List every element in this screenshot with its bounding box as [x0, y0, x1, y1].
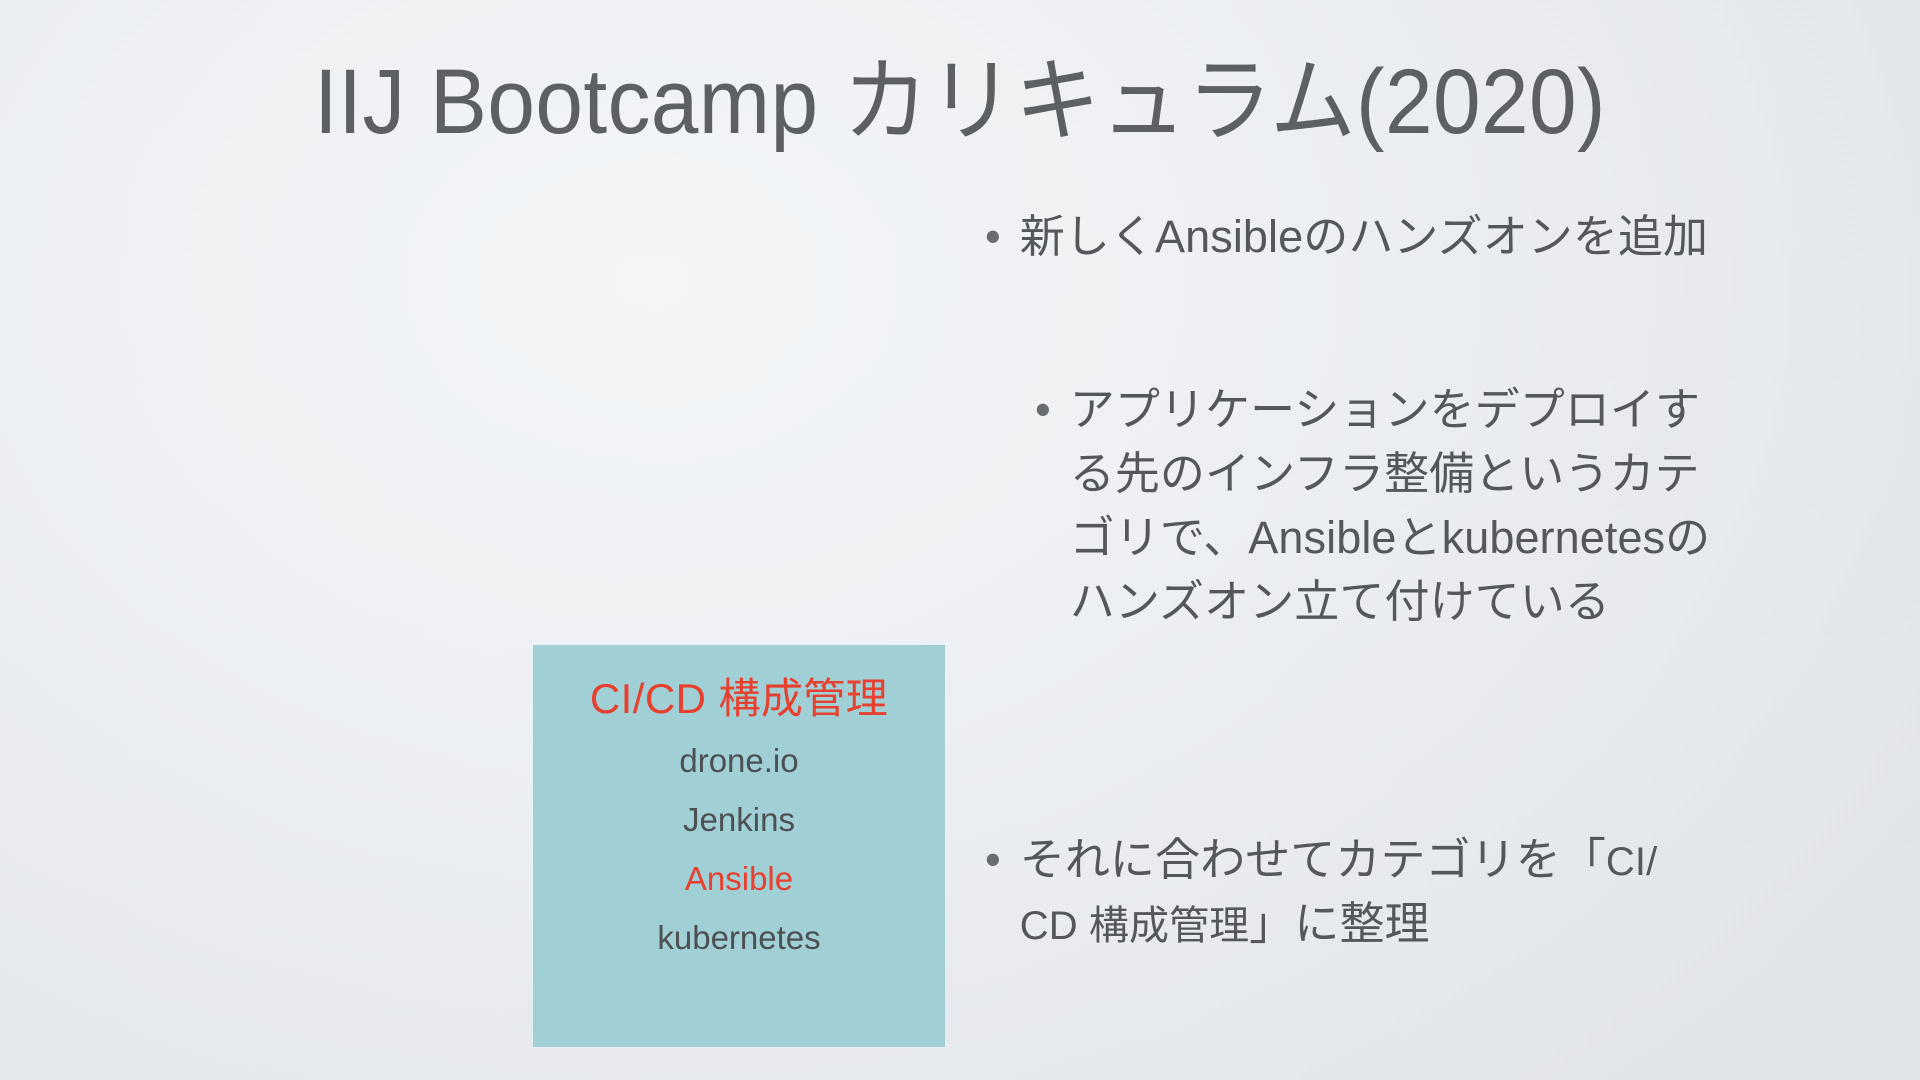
bullet-line: る先のインフラ整備というカテ [1070, 442, 1775, 506]
bullet-text: 新しくAnsibleのハンズオンを追加 [1020, 205, 1708, 269]
bullet-line-inline-cicd: CI/ [1606, 840, 1657, 884]
bullet-dot-icon: • [985, 205, 1001, 269]
bullet-block-3: • それに合わせてカテゴリを「CI/ CD 構成管理」に整理 [985, 828, 1745, 956]
bullet-row: • アプリケーションをデプロイす る先のインフラ整備というカテ ゴリで、Ansi… [1035, 378, 1775, 634]
bullet-line: ハンズオン立て付けている [1070, 570, 1775, 634]
bullet-block-2: • アプリケーションをデプロイす る先のインフラ整備というカテ ゴリで、Ansi… [1035, 378, 1775, 634]
cicd-box-item-kubernetes: kubernetes [533, 921, 945, 954]
bullet-line-inline-cd: CD 構成管理 [1020, 904, 1250, 948]
slide-canvas: IIJ Bootcamp カリキュラム(2020) • 新しくAnsibleのハ… [0, 0, 1920, 1080]
bullet-row: • それに合わせてカテゴリを「CI/ CD 構成管理」に整理 [985, 828, 1745, 956]
bullet-line-suffix: 」に整理 [1249, 898, 1429, 949]
bullet-text: それに合わせてカテゴリを「CI/ CD 構成管理」に整理 [1020, 828, 1745, 956]
cicd-category-box: CI/CD 構成管理 drone.io Jenkins Ansible kube… [533, 645, 945, 1047]
cicd-box-title: CI/CD 構成管理 [533, 673, 945, 726]
bullet-dot-icon: • [985, 828, 1001, 892]
bullet-line: アプリケーションをデプロイす [1070, 378, 1775, 442]
bullet-line-prefix: それに合わせてカテゴリを「 [1020, 834, 1606, 885]
cicd-box-item-jenkins: Jenkins [533, 803, 945, 836]
bullet-line: それに合わせてカテゴリを「CI/ [1020, 828, 1745, 892]
bullet-line: CD 構成管理」に整理 [1020, 892, 1745, 956]
bullet-block-1: • 新しくAnsibleのハンズオンを追加 [985, 205, 1685, 269]
cicd-box-item-drone: drone.io [533, 744, 945, 777]
bullet-line: ゴリで、Ansibleとkubernetesの [1070, 506, 1775, 570]
page-title: IIJ Bootcamp カリキュラム(2020) [67, 52, 1853, 153]
bullet-dot-icon: • [1035, 378, 1051, 442]
bullet-line: 新しくAnsibleのハンズオンを追加 [1020, 205, 1708, 269]
bullet-text: アプリケーションをデプロイす る先のインフラ整備というカテ ゴリで、Ansibl… [1070, 378, 1775, 634]
bullet-row: • 新しくAnsibleのハンズオンを追加 [985, 205, 1685, 269]
cicd-box-item-ansible: Ansible [533, 862, 945, 895]
